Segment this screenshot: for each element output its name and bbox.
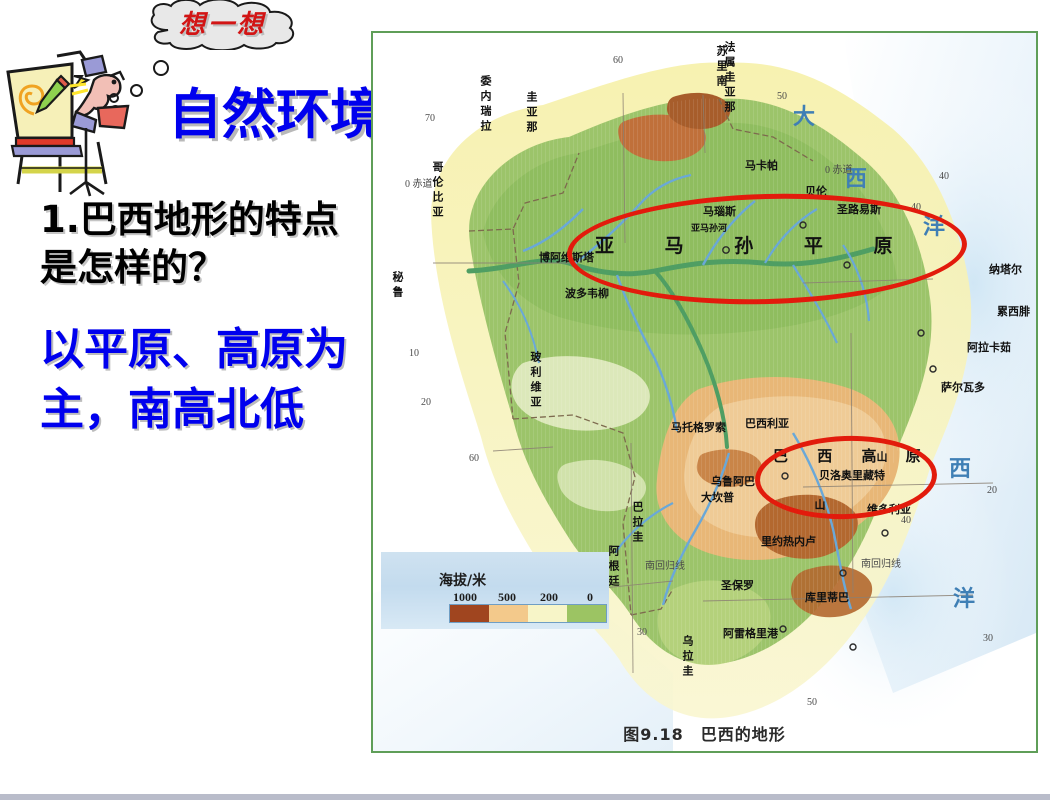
legend-tick-labels: 1000 500 200 0 (453, 590, 601, 604)
map-label-salvador: 萨尔瓦多 (941, 379, 985, 395)
slide-bottom-bar (0, 794, 1050, 800)
map-label-uruguay: 乌拉圭 (679, 635, 695, 680)
map-graticule-40s: 40 (901, 515, 911, 526)
map-graticule-equator: 0 赤道 (405, 175, 433, 190)
map-graticule-50: 50 (777, 91, 787, 102)
map-graticule-tropic-east: 南回归线 (861, 555, 901, 570)
legend-swatch-0-200 (567, 605, 606, 622)
map-graticule-30w: 30 (637, 627, 647, 638)
artist-at-easel-illustration (2, 42, 134, 200)
map-graticule-tropic: 南回归线 (645, 557, 685, 572)
map-label-paraguay: 巴拉圭 (629, 501, 645, 546)
map-label-aracaju: 阿拉卡茹 (967, 339, 1011, 355)
map-label-porto-velho: 波多韦柳 (565, 285, 609, 301)
map-caption: 图9.18 巴西的地形 (373, 721, 1036, 745)
map-label-campo-grande: 大坎普 (701, 489, 734, 505)
map-label-atlantic-xi-south: 西 (949, 451, 971, 483)
map-label-goiania: 乌鲁阿巴 (711, 473, 755, 489)
map-label-venezuela: 委内瑞拉 (477, 75, 493, 135)
map-label-curitiba: 库里蒂巴 (805, 589, 849, 605)
answer-text: 以平原、高原为主，南高北低 (40, 320, 370, 440)
slide-canvas: 想一想 (0, 0, 1050, 800)
think-bubble-text: 想一想 (140, 4, 305, 41)
map-label-recife: 累西腓 (997, 303, 1030, 319)
legend-tick-500: 500 (498, 590, 516, 605)
think-bubble: 想一想 (140, 0, 305, 50)
map-label-macapa: 马卡帕 (745, 157, 778, 173)
brazil-topographic-map (373, 33, 1036, 751)
legend-title: 海拔/米 (439, 570, 486, 590)
map-label-mato-grosso: 马托格罗索 (671, 419, 726, 435)
map-graticule-40: 40 (939, 171, 949, 182)
map-graticule-70: 70 (425, 113, 435, 124)
legend-swatch-500-1000 (489, 605, 528, 622)
question-text: 1.巴西地形的特点是怎样的？ (40, 196, 370, 292)
map-graticule-10: 10 (409, 348, 419, 359)
legend-swatch-200-500 (528, 605, 567, 622)
map-graticule-30e: 30 (983, 633, 993, 644)
map-graticule-20: 20 (421, 397, 431, 408)
legend-swatch-above-1000 (450, 605, 489, 622)
map-legend: 海拔/米 1000 500 200 0 (381, 552, 609, 629)
map-label-atlantic-yang-south: 洋 (953, 581, 975, 613)
map-graticule-60s: 60 (469, 453, 479, 464)
bubble-dot-large (153, 60, 169, 76)
legend-tick-200: 200 (540, 590, 558, 605)
map-label-porto-alegre: 阿雷格里港 (723, 625, 778, 641)
map-label-natal: 纳塔尔 (989, 261, 1022, 277)
page-title: 自然环境 (168, 86, 384, 144)
map-graticule-50s: 50 (807, 697, 817, 708)
map-graticule-60n: 60 (613, 55, 623, 66)
legend-tick-1000: 1000 (453, 590, 477, 605)
legend-color-swatches (449, 604, 607, 623)
map-label-colombia: 哥伦比亚 (429, 161, 445, 221)
map-label-peru: 秘鲁 (389, 271, 405, 301)
legend-tick-0: 0 (587, 590, 593, 605)
map-graticule-20e: 20 (987, 485, 997, 496)
map-label-bolivia: 玻利维亚 (527, 351, 543, 411)
map-label-atlantic-da: 大 (793, 99, 815, 131)
map-label-rio-de-janeiro: 里约热内卢 (761, 533, 816, 549)
map-graticule-equator-east: 0 赤道 (825, 161, 853, 176)
map-label-french-guiana: 法属圭亚那 (721, 41, 737, 116)
map-label-sao-paulo: 圣保罗 (721, 577, 754, 593)
map-figure-frame: 亚 马 孙 平 原 巴 西 高 原 马瑙斯 贝伦 圣路易斯 纳塔尔 累西腓 阿拉… (371, 31, 1038, 753)
map-label-guyana: 圭亚那 (523, 91, 539, 136)
map-label-brasilia: 巴西利亚 (745, 415, 789, 431)
left-content-column: 想一想 (0, 0, 368, 800)
